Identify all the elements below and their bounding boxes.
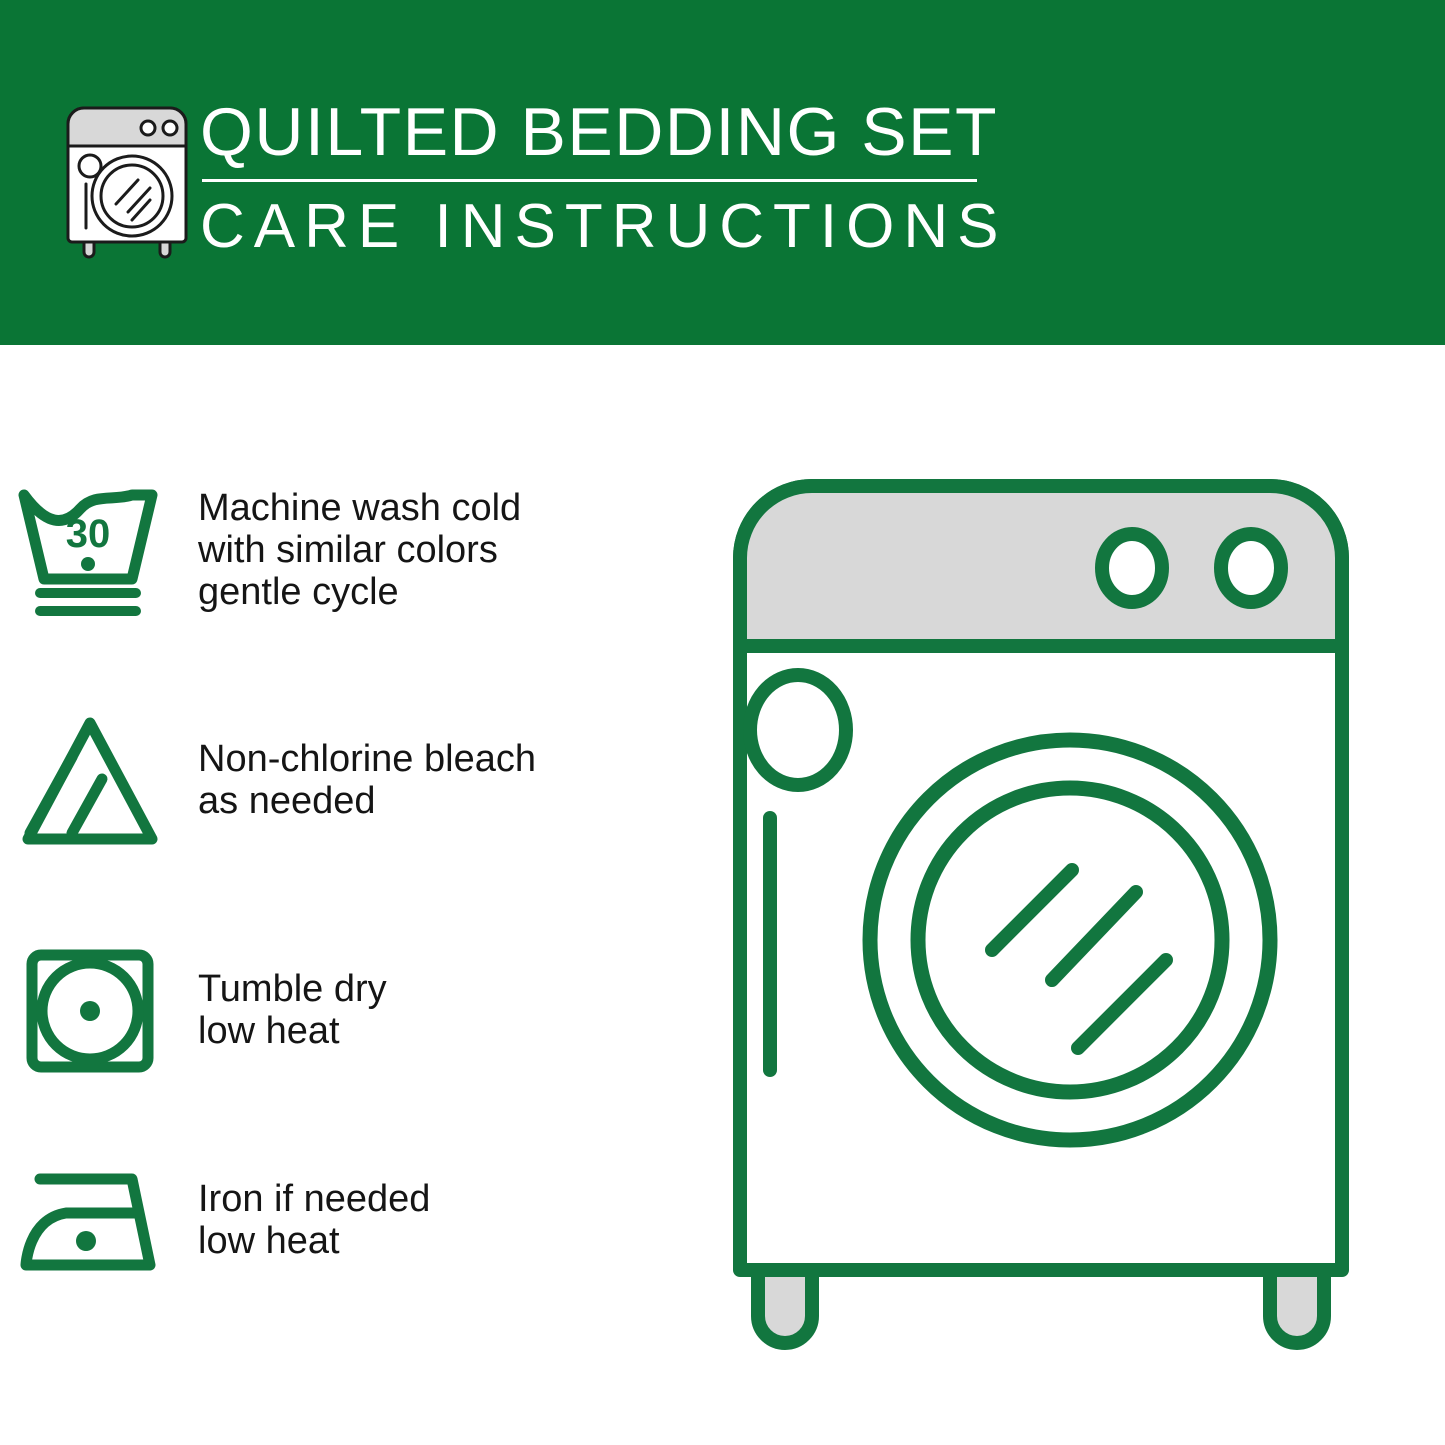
care-row: Non-chlorine bleach as needed [0,695,700,865]
door-inner-ring [918,788,1222,1092]
front-load-washing-machine-illustration [700,440,1420,1380]
care-row: Tumble dry low heat [0,925,700,1095]
care-text: Non-chlorine bleach as needed [180,738,536,822]
care-instruction-list: 30 Machine wash cold with similar colors… [0,345,700,1445]
page-subtitle: CARE INSTRUCTIONS [200,194,1200,260]
care-text-line: Iron if needed [198,1178,430,1220]
care-instructions-infographic: QUILTED BEDDING SET CARE INSTRUCTIONS 30 [0,0,1445,1445]
header-divider [202,179,977,182]
non-chlorine-bleach-icon [0,695,180,865]
tumble-dry-low-icon [0,925,180,1095]
header-band: QUILTED BEDDING SET CARE INSTRUCTIONS [0,0,1445,345]
wash-temperature-label: 30 [66,512,111,556]
care-row: Iron if needed low heat [0,1135,700,1305]
care-text-line: Tumble dry [198,968,387,1010]
care-text-line: gentle cycle [198,571,521,613]
care-row: 30 Machine wash cold with similar colors… [0,465,700,635]
detergent-dispenser [750,675,846,785]
care-text-line: Non-chlorine bleach [198,738,536,780]
header-text-block: QUILTED BEDDING SET CARE INSTRUCTIONS [200,96,1200,260]
knob-left [1102,534,1162,602]
page-title: QUILTED BEDDING SET [200,96,1200,168]
care-text: Iron if needed low heat [180,1178,430,1262]
care-text-line: with similar colors [198,529,521,571]
care-text-line: Machine wash cold [198,487,521,529]
care-text: Machine wash cold with similar colors ge… [180,487,521,613]
care-text-line: as needed [198,780,536,822]
iron-low-heat-icon [0,1135,180,1305]
machine-wash-30-gentle-icon: 30 [0,465,180,635]
knob-right [1221,534,1281,602]
washing-machine-icon [62,100,192,260]
care-text-line: low heat [198,1220,430,1262]
care-text: Tumble dry low heat [180,968,387,1052]
care-text-line: low heat [198,1010,387,1052]
